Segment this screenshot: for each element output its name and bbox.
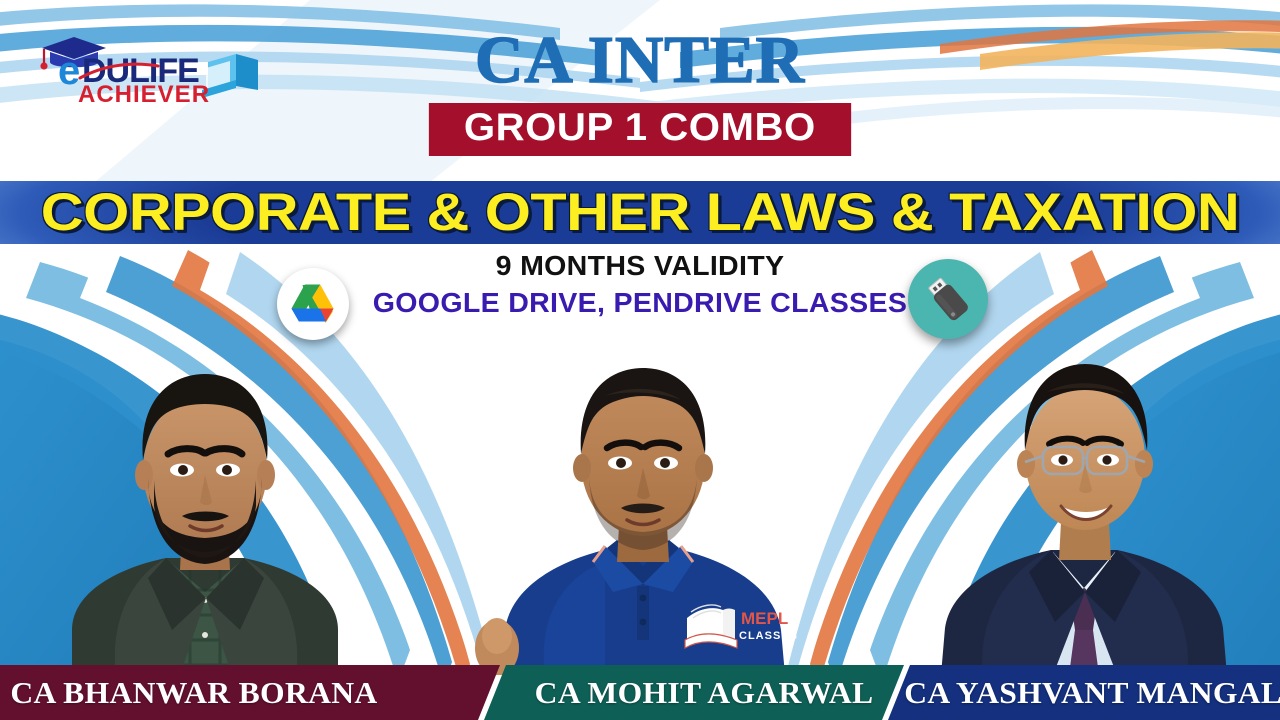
faculty-photo-bhanwar-borana <box>30 330 380 675</box>
faculty-name-bar: CA BHANWAR BORANA CA MOHIT AGARWAL CA YA… <box>0 665 1280 720</box>
faculty-1-portrait <box>30 330 380 675</box>
delivery-modes-text: GOOGLE DRIVE, PENDRIVE CLASSES <box>0 287 1280 319</box>
mepl-text: MEPL <box>741 609 788 628</box>
subject-headline-band: CORPORATE & OTHER LAWS & TAXATION <box>0 181 1280 244</box>
faculty-name-panel-2: CA MOHIT AGARWAL <box>484 665 904 720</box>
classes-text: CLASSES <box>739 630 798 642</box>
faculty-name-2: CA MOHIT AGARWAL <box>535 675 874 711</box>
usb-pendrive-icon <box>921 272 975 326</box>
logo-sub-text: ACHIEVER <box>78 81 210 106</box>
subject-headline: CORPORATE & OTHER LAWS & TAXATION <box>41 186 1239 239</box>
faculty-name-panel-1: CA BHANWAR BORANA <box>0 665 500 720</box>
faculty-name-1: CA BHANWAR BORANA <box>10 675 377 711</box>
faculty-3-portrait <box>905 330 1260 675</box>
mepl-classes-shirt-logo: MEPL CLASSES <box>685 605 798 648</box>
faculty-name-panel-3: CA YASHVANT MANGAL <box>888 665 1280 720</box>
google-drive-icon <box>290 283 336 325</box>
faculty-name-3: CA YASHVANT MANGAL <box>904 675 1280 711</box>
faculty-2-portrait: MEPL CLASSES <box>455 330 830 675</box>
logo-svg: e DULIFE ACHIEVER <box>30 28 260 106</box>
promo-banner: e DULIFE ACHIEVER CA INTER GROUP 1 COMBO… <box>0 0 1280 720</box>
logo-e-text: e <box>58 49 80 93</box>
faculty-photo-yashvant-mangal <box>905 330 1260 675</box>
validity-text: 9 MONTHS VALIDITY <box>0 250 1280 282</box>
pendrive-badge <box>908 259 988 339</box>
edulife-achiever-logo[interactable]: e DULIFE ACHIEVER <box>30 28 260 106</box>
faculty-photos: MEPL CLASSES <box>0 330 1280 675</box>
open-book-icon <box>202 54 258 98</box>
faculty-photo-mohit-agarwal: MEPL CLASSES <box>455 330 830 675</box>
